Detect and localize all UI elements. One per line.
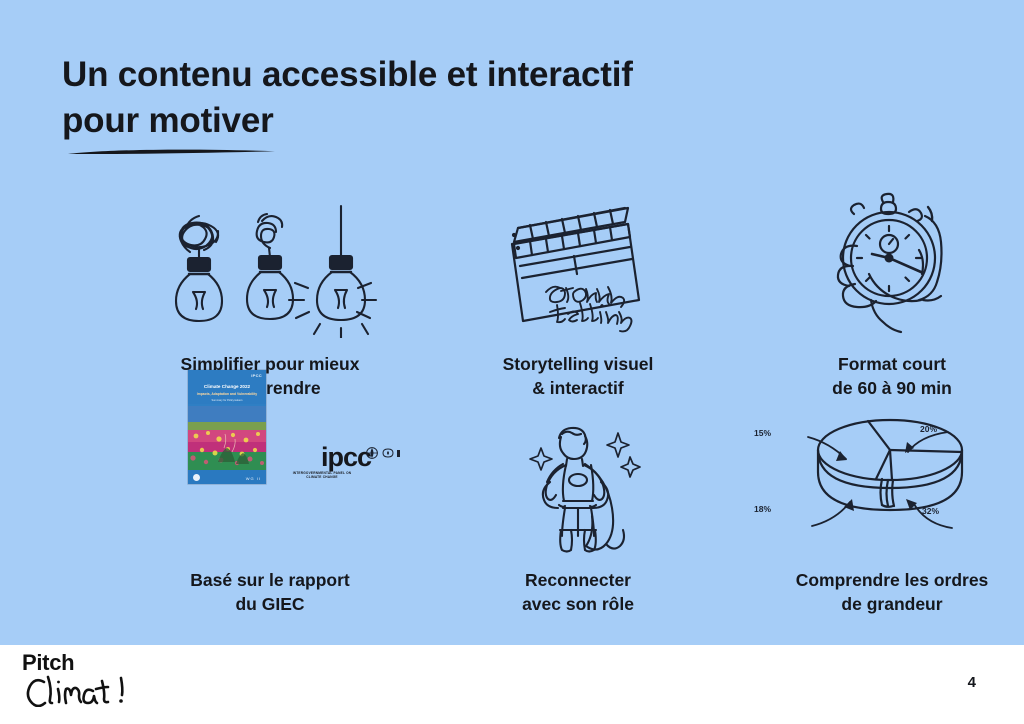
title-underline-stroke [66, 147, 278, 157]
caption-line-2: de grandeur [742, 592, 1024, 616]
feature-card-ordres-grandeur: 15% 20% 18% 32% Comprendre les ordres de… [742, 416, 1024, 616]
pie-label-bottom-left: 18% [754, 504, 771, 514]
slide-footer: Pitch [0, 645, 1024, 724]
feature-card-simplifier: Simplifier pour mieux comprendre [120, 188, 420, 400]
feature-card-storytelling: Storytelling visuel & interactif [428, 188, 728, 400]
caption-line-1: Format court [742, 352, 1024, 376]
caption-line-2: du GIEC [120, 592, 420, 616]
slide: Un contenu accessible et interactif pour… [0, 0, 1024, 724]
ipcc-book-cover: IPCC Climate Change 2022 Impacts, Adapta… [188, 370, 266, 484]
caption-line-1: Comprendre les ordres [742, 568, 1024, 592]
page-number: 4 [968, 674, 976, 691]
feature-caption: Format court de 60 à 90 min [742, 352, 1024, 400]
caption-line-1: Simplifier pour mieux [120, 352, 420, 376]
pie-label-bottom-right: 32% [922, 506, 939, 516]
book-title: Climate Change 2022 [188, 384, 266, 390]
title-line-1: Un contenu accessible et interactif [62, 52, 762, 98]
book-footer-band: WG II [188, 470, 266, 484]
caption-line-2: avec son rôle [428, 592, 728, 616]
superhero-icon [428, 416, 728, 556]
caption-line-1: Reconnecter [428, 568, 728, 592]
ipcc-logo: ipcc INTERGOVERNMENTAL PANEL ON CLIMATE … [286, 444, 406, 479]
ipcc-tagline: INTERGOVERNMENTAL PANEL ON CLIMATE CHANG… [286, 471, 358, 479]
caption-line-1: Storytelling visuel [428, 352, 728, 376]
book-workgroup-mark: WG II [246, 476, 261, 481]
ipcc-report-cover-icon: IPCC Climate Change 2022 Impacts, Adapta… [120, 416, 420, 556]
book-subsubtitle: Summary for Policymakers [192, 399, 262, 402]
title-line-2: pour motiver [62, 98, 762, 144]
feature-caption: Basé sur le rapport du GIEC [120, 568, 420, 616]
feature-caption: Storytelling visuel & interactif [428, 352, 728, 400]
caption-line-2: comprendre [120, 376, 420, 400]
feature-card-reconnecter: Reconnecter avec son rôle [428, 416, 728, 616]
pie-chart-3d-icon: 15% 20% 18% 32% [742, 416, 1024, 556]
logo-pitch-text: Pitch [22, 651, 182, 674]
page-title: Un contenu accessible et interactif pour… [62, 52, 762, 162]
logo-climat-script [22, 673, 142, 707]
pie-label-top-left: 15% [754, 428, 771, 438]
feature-grid: Simplifier pour mieux comprendre [62, 188, 962, 628]
ipcc-partner-logos [364, 446, 404, 462]
pitch-climat-logo: Pitch [22, 651, 182, 717]
feature-card-format-court: Format court de 60 à 90 min [742, 188, 1024, 400]
feature-card-rapport-giec: IPCC Climate Change 2022 Impacts, Adapta… [120, 416, 420, 616]
three-lightbulbs-icon [120, 188, 420, 338]
clapperboard-icon [428, 188, 728, 338]
book-brand-mark: IPCC [251, 373, 262, 378]
feature-caption: Simplifier pour mieux comprendre [120, 352, 420, 400]
caption-line-2: de 60 à 90 min [742, 376, 1024, 400]
book-badge [193, 474, 200, 481]
pie-label-top-right: 20% [920, 424, 937, 434]
hand-stopwatch-icon [742, 188, 1024, 338]
caption-line-2: & interactif [428, 376, 728, 400]
feature-caption: Comprendre les ordres de grandeur [742, 568, 1024, 616]
caption-line-1: Basé sur le rapport [120, 568, 420, 592]
book-cover-artwork [188, 406, 266, 470]
book-subtitle: Impacts, Adaptation and Vulnerability [192, 392, 262, 396]
feature-caption: Reconnecter avec son rôle [428, 568, 728, 616]
